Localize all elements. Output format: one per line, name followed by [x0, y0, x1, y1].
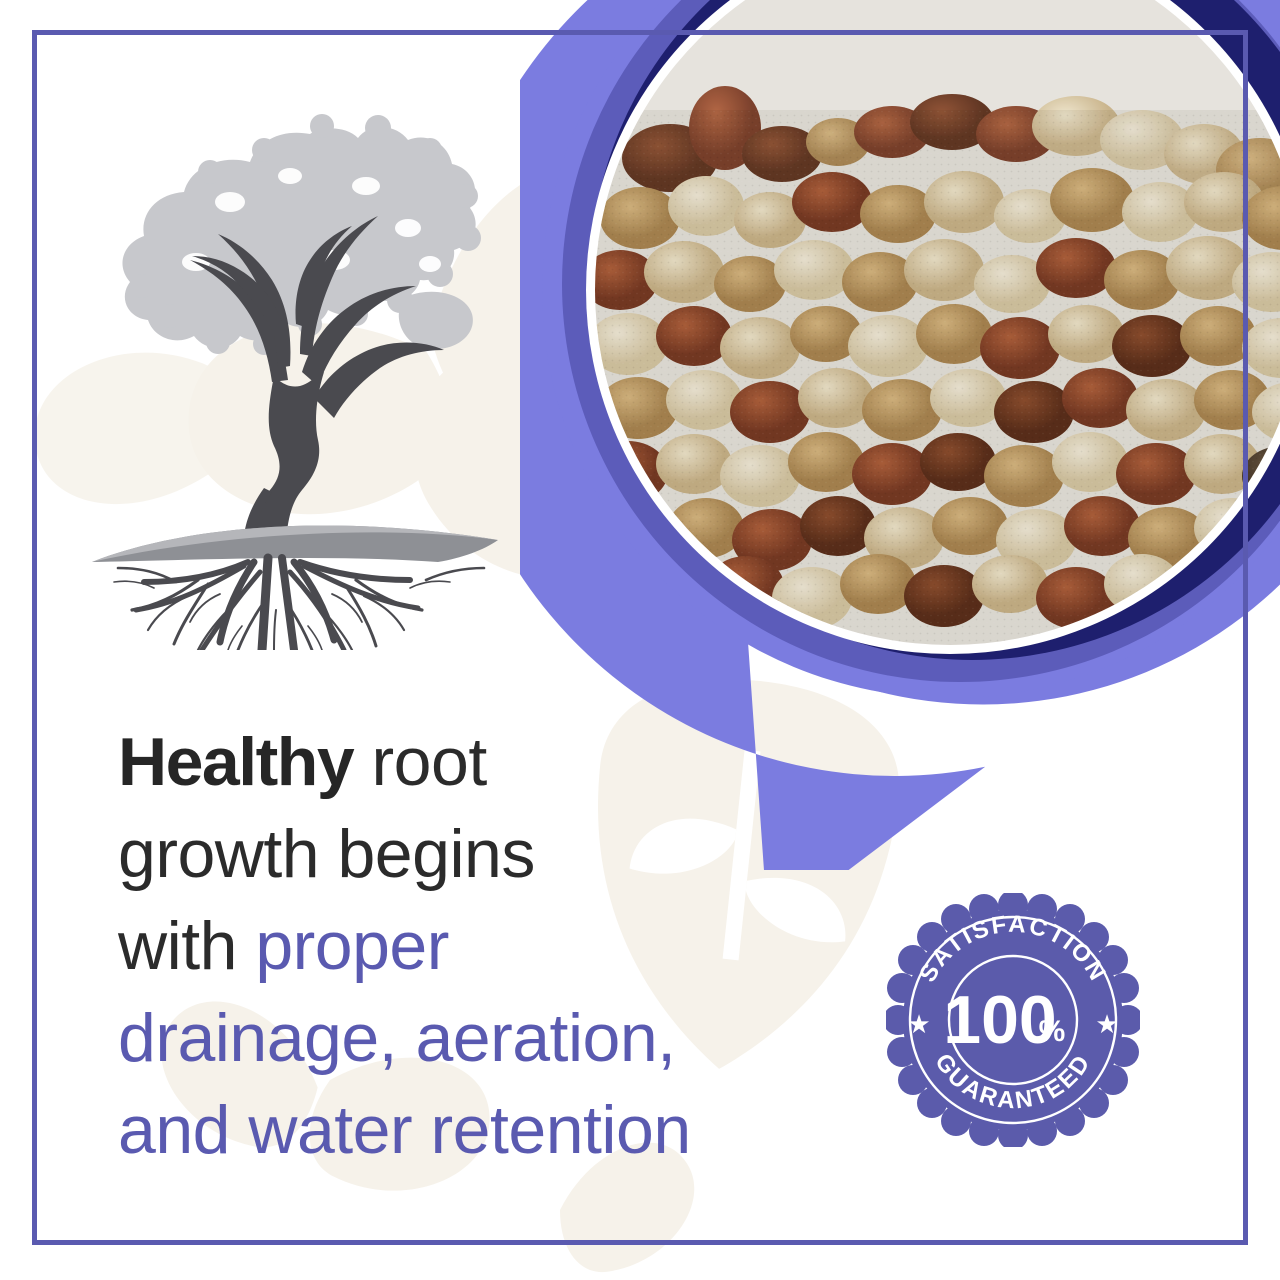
headline-emphasis: Healthy	[118, 724, 353, 800]
poster-canvas: Healthy root growth begins with proper d…	[0, 0, 1280, 1280]
headline: Healthy root growth begins with proper d…	[118, 716, 878, 1176]
headline-line-3: with proper	[118, 900, 878, 992]
satisfaction-guaranteed-badge: SATISFACTION GUARANTEED ★ ★ 100 %	[886, 893, 1140, 1147]
headline-line-5: and water retention	[118, 1084, 878, 1176]
headline-line-1: Healthy root	[118, 716, 878, 808]
headline-line-3-dark: with	[118, 908, 255, 984]
headline-line-4: drainage, aeration,	[118, 992, 878, 1084]
headline-line-3-accent: proper	[255, 908, 449, 984]
headline-line-1-rest: root	[353, 724, 487, 800]
tree-with-roots-illustration	[78, 110, 538, 650]
badge-percent-symbol: %	[1039, 1015, 1066, 1048]
badge-left-star-icon: ★	[907, 1009, 930, 1039]
soil-line	[92, 526, 498, 562]
badge-right-star-icon: ★	[1095, 1009, 1118, 1039]
tree-roots	[114, 558, 484, 650]
headline-line-2: growth begins	[118, 808, 878, 900]
